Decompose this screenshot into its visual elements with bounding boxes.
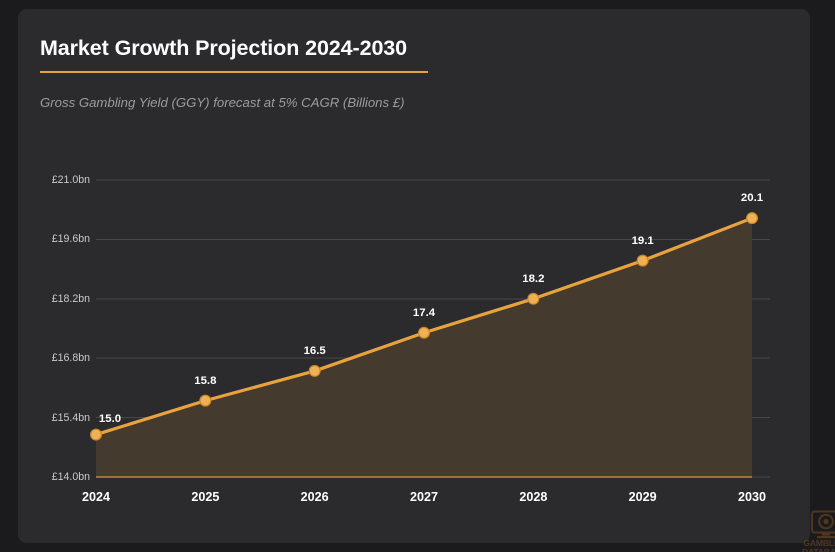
watermark-logo: GAMBLING DATABASES xyxy=(802,510,835,552)
x-axis-tick-label: 2027 xyxy=(410,490,438,504)
x-axis-tick-label: 2026 xyxy=(301,490,329,504)
watermark-line-2: DATABASES xyxy=(802,547,835,552)
x-axis-tick-label: 2025 xyxy=(191,490,219,504)
y-axis-tick-label: £16.8bn xyxy=(32,352,90,364)
data-point-value-label: 19.1 xyxy=(632,235,654,247)
data-point-value-label: 17.4 xyxy=(413,307,435,319)
data-point-marker[interactable] xyxy=(637,255,648,266)
y-axis-tick-label: £18.2bn xyxy=(32,293,90,305)
chart-card: Market Growth Projection 2024-2030 Gross… xyxy=(18,9,810,543)
line-chart: £14.0bn£15.4bn£16.8bn£18.2bn£19.6bn£21.0… xyxy=(18,9,810,543)
x-axis-tick-label: 2029 xyxy=(629,490,657,504)
data-point-marker[interactable] xyxy=(309,366,320,377)
x-axis-tick-label: 2030 xyxy=(738,490,766,504)
data-point-marker[interactable] xyxy=(200,395,211,406)
y-axis-tick-label: £14.0bn xyxy=(32,471,90,483)
data-point-marker[interactable] xyxy=(747,213,758,224)
data-point-value-label: 16.5 xyxy=(304,345,326,357)
y-axis-tick-label: £15.4bn xyxy=(32,412,90,424)
data-point-value-label: 18.2 xyxy=(522,273,544,285)
y-axis-tick-label: £19.6bn xyxy=(32,233,90,245)
chart-canvas xyxy=(18,9,810,543)
x-axis-tick-label: 2028 xyxy=(519,490,547,504)
data-point-marker[interactable] xyxy=(419,327,430,338)
x-axis-tick-label: 2024 xyxy=(82,490,110,504)
monitor-chip-icon xyxy=(802,510,835,540)
y-axis-tick-label: £21.0bn xyxy=(32,174,90,186)
data-point-value-label: 20.1 xyxy=(741,192,763,204)
data-point-marker[interactable] xyxy=(91,429,102,440)
data-point-value-label: 15.8 xyxy=(194,375,216,387)
screenshot-root: Market Growth Projection 2024-2030 Gross… xyxy=(0,0,835,552)
data-point-marker[interactable] xyxy=(528,293,539,304)
data-point-value-label: 15.0 xyxy=(99,413,121,425)
